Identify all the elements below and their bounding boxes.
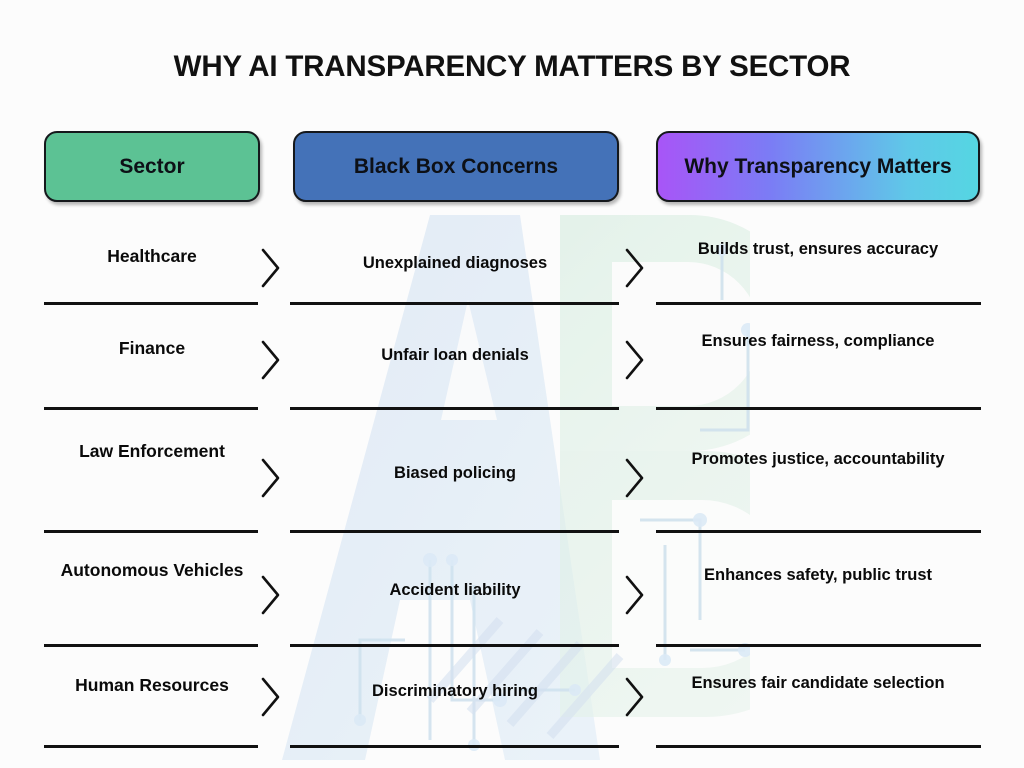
row-divider: [656, 302, 981, 305]
row-divider: [44, 745, 258, 748]
cell-sector: Healthcare: [44, 246, 260, 268]
column-header-sector: Sector: [44, 131, 260, 202]
row-divider: [290, 745, 619, 748]
column-header-why-transparency-matters-label: Why Transparency Matters: [684, 155, 951, 179]
row-divider: [656, 530, 981, 533]
chevron-right-icon: [622, 246, 648, 290]
row-divider: [44, 644, 258, 647]
column-header-black-box-concerns-label: Black Box Concerns: [354, 155, 558, 179]
chevron-right-icon: [622, 456, 648, 500]
column-header-sector-label: Sector: [119, 155, 184, 179]
page-title: WHY AI TRANSPARENCY MATTERS BY SECTOR: [0, 50, 1024, 84]
row-divider: [44, 302, 258, 305]
row-divider: [44, 407, 258, 410]
cell-transparency: Ensures fairness, compliance: [656, 331, 980, 352]
cell-transparency: Promotes justice, accountability: [656, 449, 980, 470]
row-divider: [656, 745, 981, 748]
chevron-right-icon: [622, 338, 648, 382]
cell-concern: Accident liability: [290, 580, 620, 601]
chevron-right-icon: [258, 456, 284, 500]
chevron-right-icon: [622, 675, 648, 719]
cell-sector: Autonomous Vehicles: [44, 560, 260, 582]
column-header-black-box-concerns: Black Box Concerns: [293, 131, 619, 202]
cell-concern: Discriminatory hiring: [290, 681, 620, 702]
chevron-right-icon: [258, 573, 284, 617]
cell-concern: Unexplained diagnoses: [290, 253, 620, 274]
cell-sector: Law Enforcement: [44, 441, 260, 463]
row-divider: [656, 644, 981, 647]
infographic-stage: WHY AI TRANSPARENCY MATTERS BY SECTOR Se…: [0, 0, 1024, 768]
cell-sector: Finance: [44, 338, 260, 360]
row-divider: [44, 530, 258, 533]
cell-concern: Biased policing: [290, 463, 620, 484]
column-header-why-transparency-matters: Why Transparency Matters: [656, 131, 980, 202]
row-divider: [290, 530, 619, 533]
cell-concern: Unfair loan denials: [290, 345, 620, 366]
chevron-right-icon: [258, 246, 284, 290]
cell-sector: Human Resources: [44, 675, 260, 697]
row-divider: [290, 407, 619, 410]
cell-transparency: Builds trust, ensures accuracy: [656, 239, 980, 260]
chevron-right-icon: [622, 573, 648, 617]
chevron-right-icon: [258, 675, 284, 719]
row-divider: [290, 302, 619, 305]
row-divider: [656, 407, 981, 410]
cell-transparency: Enhances safety, public trust: [656, 565, 980, 586]
chevron-right-icon: [258, 338, 284, 382]
row-divider: [290, 644, 619, 647]
cell-transparency: Ensures fair candidate selection: [656, 673, 980, 694]
